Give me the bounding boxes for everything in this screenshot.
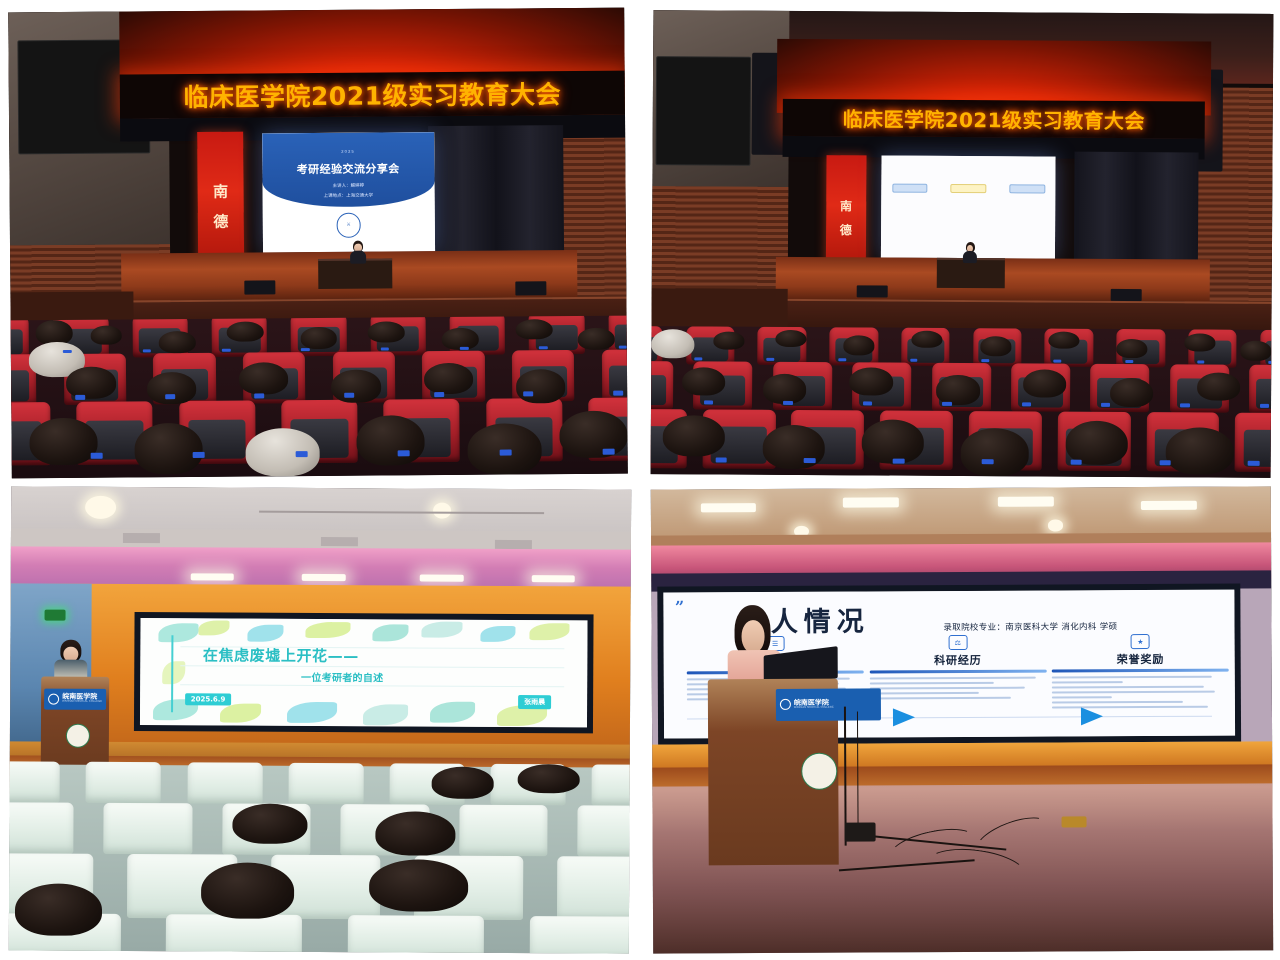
slide-chip-3: [1009, 185, 1045, 194]
slide-section-2-heading: 科研经历: [869, 652, 1046, 669]
led-banner-text: 临床医学院2021级实习教育大会: [183, 75, 561, 114]
school-logo-icon: [48, 693, 59, 704]
banner-char-1: 南: [213, 181, 228, 202]
slide-title: 考研经验交流分享会: [262, 160, 435, 177]
timeline-arrow-1: [892, 708, 914, 726]
slide-name-badge: 张雨晨: [518, 695, 551, 709]
led-banner: 临床医学院2021级实习教育大会: [120, 70, 625, 118]
slide-section-3-heading: 荣誉奖励: [1052, 651, 1229, 668]
slide-chip-2: [951, 184, 987, 193]
exit-sign-icon: [45, 610, 66, 621]
white-chair-seating: [9, 765, 630, 954]
photo-top-right: 临床医学院2021级实习教育大会 南 德: [651, 10, 1274, 478]
led-screen: 在焦虑废墟上开花—— 一位考研者的自述 2025.6.9 张雨晨: [134, 612, 593, 733]
podium-seal-icon: [801, 753, 837, 790]
photo-top-left: 临床医学院2021级实习教育大会 南 德 2025 考研经验交流分享会 主讲人：…: [8, 8, 628, 479]
photo-bottom-right: ” 个人情况 录取院校专业：南京医科大学 消化内科 学硕 ☰ 任职经历: [651, 486, 1273, 953]
podium-plaque: 皖南医学院 WANNAN MEDICAL COLLEGE: [776, 688, 882, 721]
banner-char-1: 南: [840, 197, 852, 214]
slide-admission-line: 录取院校专业：南京医科大学 消化内科 学硕: [943, 620, 1117, 633]
slide-postgrad-sharing: 2025 考研经验交流分享会 主讲人：解婷婷 上课地点：上海交通大学 ⚔: [262, 133, 435, 253]
projection-screen: 2025 考研经验交流分享会 主讲人：解婷婷 上课地点：上海交通大学 ⚔: [262, 133, 435, 253]
slide-date-badge: 2025.6.9: [185, 693, 232, 705]
photo-collage: 临床医学院2021级实习教育大会 南 德 2025 考研经验交流分享会 主讲人：…: [0, 0, 1280, 960]
slide-section-3: ★ 荣誉奖励: [1052, 634, 1229, 711]
stage-speaker: [962, 242, 978, 263]
podium-plaque: 皖南医学院 WANNAN MEDICAL COLLEGE: [44, 688, 106, 709]
slide-title-line-2: 一位考研者的自述: [301, 669, 383, 684]
led-banner-text: 临床医学院2021级实习教育大会: [843, 103, 1145, 134]
podium-plaque-en: WANNAN MEDICAL COLLEGE: [794, 707, 834, 710]
slide-section-2: ⚖ 科研经历: [869, 635, 1046, 702]
school-emblem-icon: ⚔: [336, 213, 361, 238]
stage-speaker: [349, 240, 368, 263]
timeline-arrow-2: [1081, 707, 1103, 725]
photo-bottom-left: 在焦虑废墟上开花—— 一位考研者的自述 2025.6.9 张雨晨: [9, 486, 631, 953]
slide-chip-1: [892, 184, 928, 193]
quote-mark-icon: ”: [675, 597, 684, 616]
flask-icon: ⚖: [948, 635, 967, 650]
led-banner: 临床医学院2021级实习教育大会: [783, 99, 1205, 139]
award-icon: ★: [1131, 634, 1150, 649]
slide-blooming-on-ruins: 在焦虑废墟上开花—— 一位考研者的自述 2025.6.9 张雨晨: [140, 618, 587, 727]
cable-connector: [1062, 817, 1087, 827]
audience-seating: [11, 315, 628, 478]
banner-char-2: 德: [840, 221, 852, 238]
school-logo-icon: [780, 699, 791, 710]
floor-monitor: [845, 823, 876, 842]
slide-title-line-1: 在焦虑废墟上开花——: [203, 644, 359, 666]
podium-plaque-en: WANNAN MEDICAL COLLEGE: [62, 701, 102, 704]
banner-char-2: 德: [213, 211, 228, 232]
podium-seal-icon: [66, 723, 90, 747]
audience-seating: [651, 326, 1272, 478]
